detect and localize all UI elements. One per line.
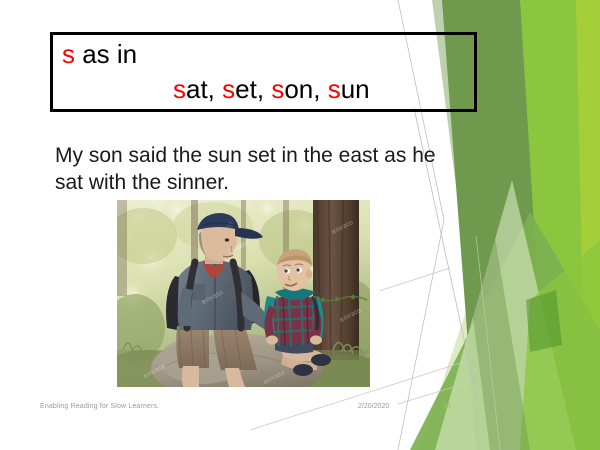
word-1-highlight: s	[173, 74, 186, 104]
footer-note: Enabling Reading for Slow Learners.	[40, 403, 159, 410]
facet-shape-lime-sliver	[576, 0, 600, 450]
title-line-2: sat, set, son, sun	[173, 73, 370, 105]
word-3-rest: on,	[284, 74, 320, 104]
word-3-highlight: s	[271, 74, 284, 104]
title-highlight-letter: s	[62, 39, 75, 69]
slide-canvas: s as in sat, set, son, sun My son said t…	[0, 0, 600, 450]
body-sentence: My son said the sun set in the east as h…	[55, 142, 455, 196]
facet-hairline-inner	[476, 236, 500, 450]
title-line-1-rest: as in	[75, 39, 137, 69]
title-line-1: s as in	[62, 38, 137, 70]
word-4-rest: un	[341, 74, 370, 104]
slide-photo: envato envato envato envato envato envat…	[117, 200, 370, 387]
facet-shape-pale-overlay	[435, 180, 576, 450]
word-4-highlight: s	[328, 74, 341, 104]
facet-hairline-bottom	[398, 220, 444, 450]
facet-shape-green-overlay	[520, 240, 600, 450]
title-box: s as in sat, set, son, sun	[50, 32, 477, 112]
facet-hairline-diagonal	[380, 268, 450, 346]
footer-date: 2/20/2020	[358, 403, 389, 410]
word-2-highlight: s	[222, 74, 235, 104]
photo-illustration	[117, 200, 370, 387]
facet-shape-dark-accent	[526, 290, 562, 352]
word-2-rest: et,	[235, 74, 264, 104]
facet-shape-mid-triangle	[410, 212, 600, 450]
facet-shape-bright-column	[520, 0, 600, 450]
word-1-rest: at,	[186, 74, 215, 104]
footer-page-number: 33	[443, 403, 451, 410]
